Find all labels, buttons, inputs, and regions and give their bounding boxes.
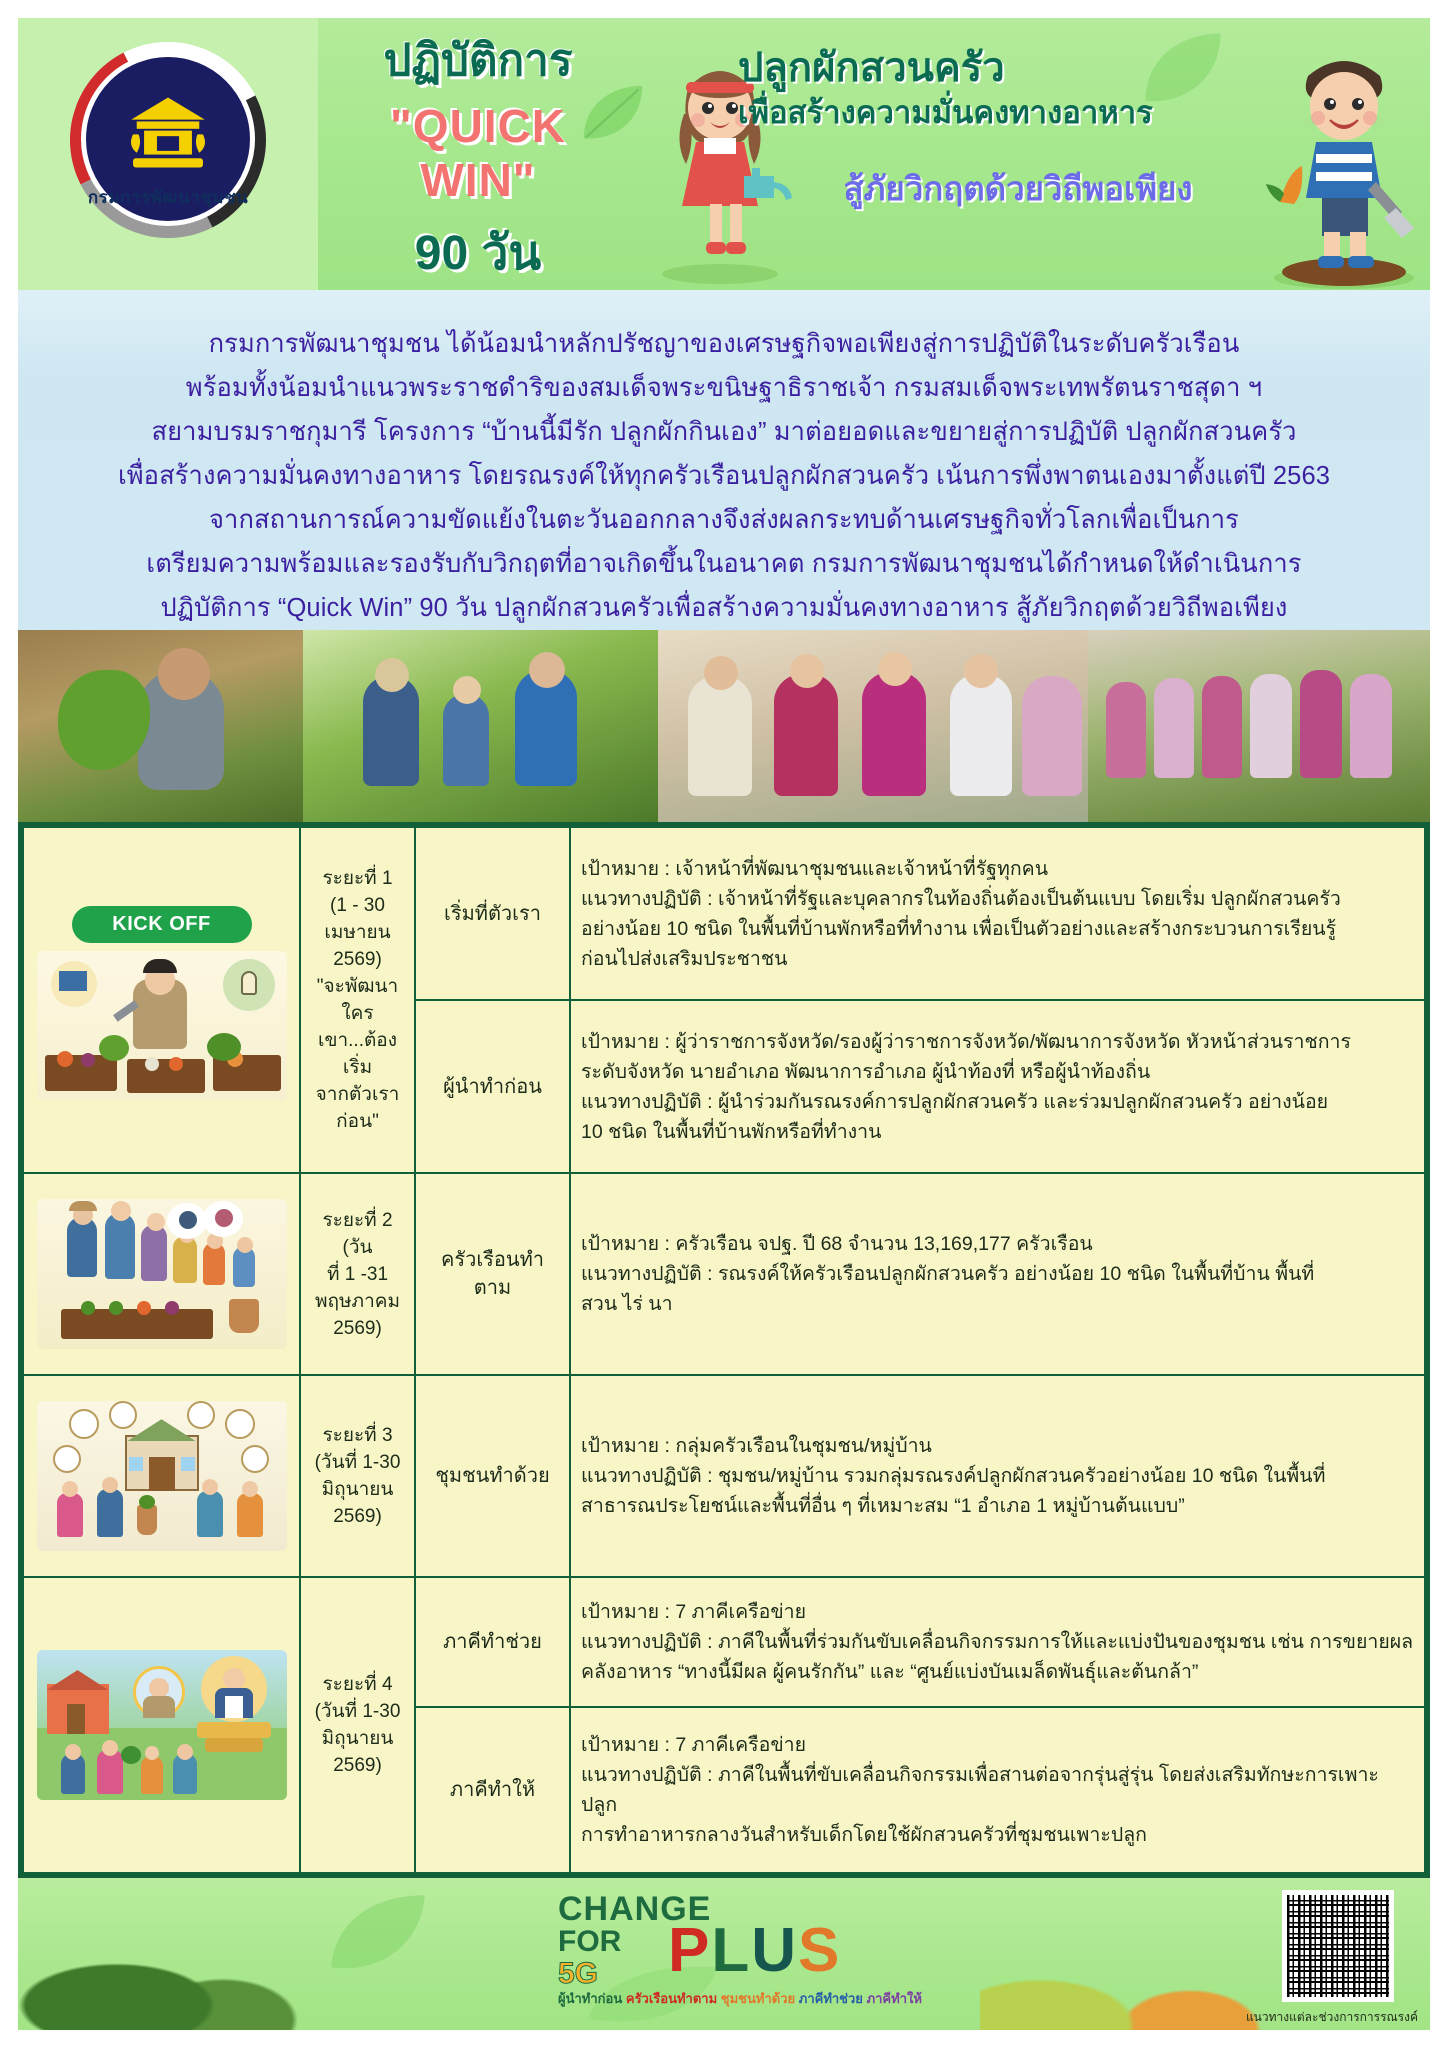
item-detail-cell-2-1: เป้าหมาย : ครัวเรือน จปฐ. ปี 68 จำนวน 13…: [570, 1173, 1425, 1375]
item-name-2-1: ครัวเรือนทำตาม: [441, 1249, 544, 1299]
detail-line: เป้าหมาย : 7 ภาคีเครือข่าย: [581, 1597, 1414, 1627]
logo-agency-name: กรมการพัฒนาชุมชน: [54, 184, 282, 211]
plus-wordmark: PLUS: [668, 1920, 841, 1982]
plus-letter-p: P: [668, 1916, 711, 1985]
leaf-icon: [318, 1888, 438, 1978]
phase-label-3: ระยะที่ 3 (วันที่ 1-30 มิถุนายน 2569): [315, 1425, 401, 1527]
photo-1: [18, 630, 303, 822]
phase-illustration-cell-1: KICK OFF: [23, 827, 300, 1173]
item-name-cell-4-2: ภาคีทำให้: [415, 1707, 570, 1873]
item-name-cell-2-1: ครัวเรือนทำตาม: [415, 1173, 570, 1375]
operation-label: ปฏิบัติการ: [328, 36, 628, 87]
detail-line: แนวทางปฏิบัติ : ผู้นำร่วมกันรณรงค์การปลู…: [581, 1087, 1414, 1117]
phase-label-cell-1: ระยะที่ 1 (1 - 30 เมษายน 2569) "จะพัฒนาใ…: [300, 827, 415, 1173]
community-center-illustration: [37, 1401, 287, 1551]
item-name-cell-3-1: ชุมชนทำด้วย: [415, 1375, 570, 1577]
phase-label-2: ระยะที่ 2 (วัน ที่ 1 -31 พฤษภาคม 2569): [315, 1210, 400, 1339]
table-row: ระยะที่ 4 (วันที่ 1-30 มิถุนายน 2569) ภา…: [23, 1577, 1425, 1707]
header-right-block: ปลูกผักสวนครัว เพื่อสร้างความมั่นคงทางอา…: [738, 44, 1298, 208]
intro-line-5: เตรียมความพร้อมและรองรับกับวิกฤตที่อาจเก…: [52, 542, 1396, 586]
sub-part-4: ภาคีทำช่วย: [799, 1991, 863, 2006]
vegetable-decoration-right: [980, 1910, 1280, 2030]
phase-label-4: ระยะที่ 4 (วันที่ 1-30 มิถุนายน 2569): [315, 1674, 401, 1776]
detail-line: 10 ชนิด ในพื้นที่บ้านพักหรือที่ทำงาน: [581, 1117, 1414, 1147]
item-detail-cell-3-1: เป้าหมาย : กลุ่มครัวเรือนในชุมชน/หมู่บ้า…: [570, 1375, 1425, 1577]
item-name-1-1: เริ่มที่ตัวเรา: [444, 903, 541, 925]
detail-line: สาธารณประโยชน์และพื้นที่อื่น ๆ ที่เหมาะส…: [581, 1491, 1414, 1521]
officer-planting-illustration: [37, 951, 287, 1101]
sub-part-1: ผู้นำทำก่อน: [558, 1991, 622, 2006]
phase-illustration-cell-2: [23, 1173, 300, 1375]
logo-house-icon: [121, 92, 215, 184]
sub-part-5: ภาคีทำให้: [867, 1991, 922, 2006]
item-name-cell-1-1: เริ่มที่ตัวเรา: [415, 827, 570, 1000]
photo-strip: [18, 630, 1430, 822]
sub-part-2: ครัวเรือนทำตาม: [626, 1991, 717, 2006]
campaign-title-line2: เพื่อสร้างความมั่นคงทางอาหาร: [738, 94, 1298, 133]
plus-letter-s: S: [798, 1916, 841, 1985]
intro-line-3: เพื่อสร้างความมั่นคงทางอาหาร โดยรณรงค์ให…: [52, 454, 1396, 498]
item-detail-cell-1-2: เป้าหมาย : ผู้ว่าราชการจังหวัด/รองผู้ว่า…: [570, 1000, 1425, 1173]
detail-line: เป้าหมาย : กลุ่มครัวเรือนในชุมชน/หมู่บ้า…: [581, 1431, 1414, 1461]
intro-line-1: พร้อมทั้งน้อมนำแนวพระราชดำริของสมเด็จพระ…: [52, 366, 1396, 410]
photo-3: [658, 630, 1088, 822]
detail-line: เป้าหมาย : เจ้าหน้าที่พัฒนาชุมชนและเจ้าห…: [581, 854, 1414, 884]
intro-line-6: ปฏิบัติการ “Quick Win” 90 วัน ปลูกผักสวน…: [52, 586, 1396, 630]
item-name-3-1: ชุมชนทำด้วย: [435, 1465, 549, 1487]
header-left-block: ปฏิบัติการ "QUICK WIN" 90 วัน: [328, 36, 628, 290]
phase-illustration-cell-4: [23, 1577, 300, 1873]
boy-planting-illustration: [1256, 32, 1430, 290]
duration-label: 90 วัน: [328, 215, 628, 290]
action-plan-table: KICK OFF: [18, 822, 1430, 1878]
detail-line: แนวทางปฏิบัติ : ภาคีในพื้นที่ร่วมกันขับเ…: [581, 1627, 1414, 1657]
detail-line: การทำอาหารกลางวันสำหรับเด็กโดยใช้ผักสวนค…: [581, 1820, 1414, 1850]
family-planting-illustration: [37, 1199, 287, 1349]
item-name-1-2: ผู้นำทำก่อน: [443, 1076, 542, 1098]
qr-caption: แนวทางแต่ละช่วงการการรณรงค์: [1246, 2008, 1418, 2027]
change-for-5g-plus-logo: CHANGE FOR 5G PLUS ผู้นำทำก่อน ครัวเรือน…: [558, 1892, 878, 1990]
table-row: ระยะที่ 2 (วัน ที่ 1 -31 พฤษภาคม 2569) ค…: [23, 1173, 1425, 1375]
detail-line: แนวทางปฏิบัติ : ภาคีในพื้นที่ขับเคลื่อนก…: [581, 1760, 1414, 1820]
detail-line: สวน ไร่ นา: [581, 1289, 1414, 1319]
item-detail-cell-4-1: เป้าหมาย : 7 ภาคีเครือข่าย แนวทางปฏิบัติ…: [570, 1577, 1425, 1707]
item-name-4-2: ภาคีทำให้: [450, 1779, 535, 1801]
photo-2: [303, 630, 658, 822]
detail-line: ก่อนไปส่งเสริมประชาชน: [581, 944, 1414, 974]
phase-label-cell-2: ระยะที่ 2 (วัน ที่ 1 -31 พฤษภาคม 2569): [300, 1173, 415, 1375]
agency-logo: กรมการพัฒนาชุมชน: [48, 34, 288, 274]
qr-code-pattern: [1287, 1895, 1389, 1997]
item-name-cell-1-2: ผู้นำทำก่อน: [415, 1000, 570, 1173]
detail-line: แนวทางปฏิบัติ : รณรงค์ให้ครัวเรือนปลูกผั…: [581, 1259, 1414, 1289]
detail-line: คลังอาหาร “ทางนี้มีผล ผู้คนรักกัน” และ “…: [581, 1657, 1414, 1687]
detail-line: แนวทางปฏิบัติ : ชุมชน/หมู่บ้าน รวมกลุ่มร…: [581, 1461, 1414, 1491]
quick-win-title: "QUICK WIN": [328, 99, 628, 207]
qr-code[interactable]: [1282, 1890, 1394, 2002]
table-row: KICK OFF: [23, 827, 1425, 1000]
intro-paragraph: กรมการพัฒนาชุมชน ได้น้อมนำหลักปรัชญาของเ…: [18, 290, 1430, 630]
intro-line-2: สยามบรมราชกุมารี โครงการ “บ้านนี้มีรัก ป…: [52, 410, 1396, 454]
item-detail-cell-4-2: เป้าหมาย : 7 ภาคีเครือข่าย แนวทางปฏิบัติ…: [570, 1707, 1425, 1873]
phase-label-1: ระยะที่ 1 (1 - 30 เมษายน 2569) "จะพัฒนาใ…: [316, 868, 400, 1132]
photo-4: [1088, 630, 1430, 822]
vegetable-decoration-left: [18, 1906, 348, 2030]
detail-line: แนวทางปฏิบัติ : เจ้าหน้าที่รัฐและบุคลากร…: [581, 884, 1414, 914]
detail-line: เป้าหมาย : ครัวเรือน จปฐ. ปี 68 จำนวน 13…: [581, 1229, 1414, 1259]
item-name-cell-4-1: ภาคีทำช่วย: [415, 1577, 570, 1707]
plus-subtitle: ผู้นำทำก่อน ครัวเรือนทำตาม ชุมชนทำด้วย ภ…: [558, 1988, 988, 2009]
detail-line: อย่างน้อย 10 ชนิด ในพื้นที่บ้านพักหรือที…: [581, 914, 1414, 944]
agency-logo-panel: กรมการพัฒนาชุมชน: [18, 18, 318, 290]
campaign-title-line1: ปลูกผักสวนครัว: [738, 44, 1298, 92]
table-row: ระยะที่ 3 (วันที่ 1-30 มิถุนายน 2569) ชุ…: [23, 1375, 1425, 1577]
campaign-title-line3: สู้ภัยวิกฤตด้วยวิถีพอเพียง: [738, 169, 1298, 209]
kickoff-badge: KICK OFF: [72, 906, 252, 943]
detail-line: เป้าหมาย : ผู้ว่าราชการจังหวัด/รองผู้ว่า…: [581, 1027, 1414, 1057]
phase-label-cell-3: ระยะที่ 3 (วันที่ 1-30 มิถุนายน 2569): [300, 1375, 415, 1577]
poster-page: กรมการพัฒนาชุมชน ปฏิบัติการ "QUICK WIN" …: [0, 0, 1448, 2048]
detail-line: เป้าหมาย : 7 ภาคีเครือข่าย: [581, 1730, 1414, 1760]
plus-letter-l: L: [711, 1916, 751, 1985]
phase-label-cell-4: ระยะที่ 4 (วันที่ 1-30 มิถุนายน 2569): [300, 1577, 415, 1873]
header-banner: กรมการพัฒนาชุมชน ปฏิบัติการ "QUICK WIN" …: [18, 18, 1430, 290]
plus-letter-u: U: [751, 1916, 798, 1985]
footer-banner: CHANGE FOR 5G PLUS ผู้นำทำก่อน ครัวเรือน…: [18, 1878, 1430, 2030]
phase-illustration-cell-3: [23, 1375, 300, 1577]
network-partners-illustration: [37, 1650, 287, 1800]
item-detail-cell-1-1: เป้าหมาย : เจ้าหน้าที่พัฒนาชุมชนและเจ้าห…: [570, 827, 1425, 1000]
item-name-4-1: ภาคีทำช่วย: [443, 1631, 542, 1653]
sub-part-3: ชุมชนทำด้วย: [721, 1991, 795, 2006]
intro-line-0: กรมการพัฒนาชุมชน ได้น้อมนำหลักปรัชญาของเ…: [52, 322, 1396, 366]
intro-line-4: จากสถานการณ์ความขัดแย้งในตะวันออกกลางจึง…: [52, 498, 1396, 542]
detail-line: ระดับจังหวัด นายอำเภอ พัฒนาการอำเภอ ผู้น…: [581, 1057, 1414, 1087]
